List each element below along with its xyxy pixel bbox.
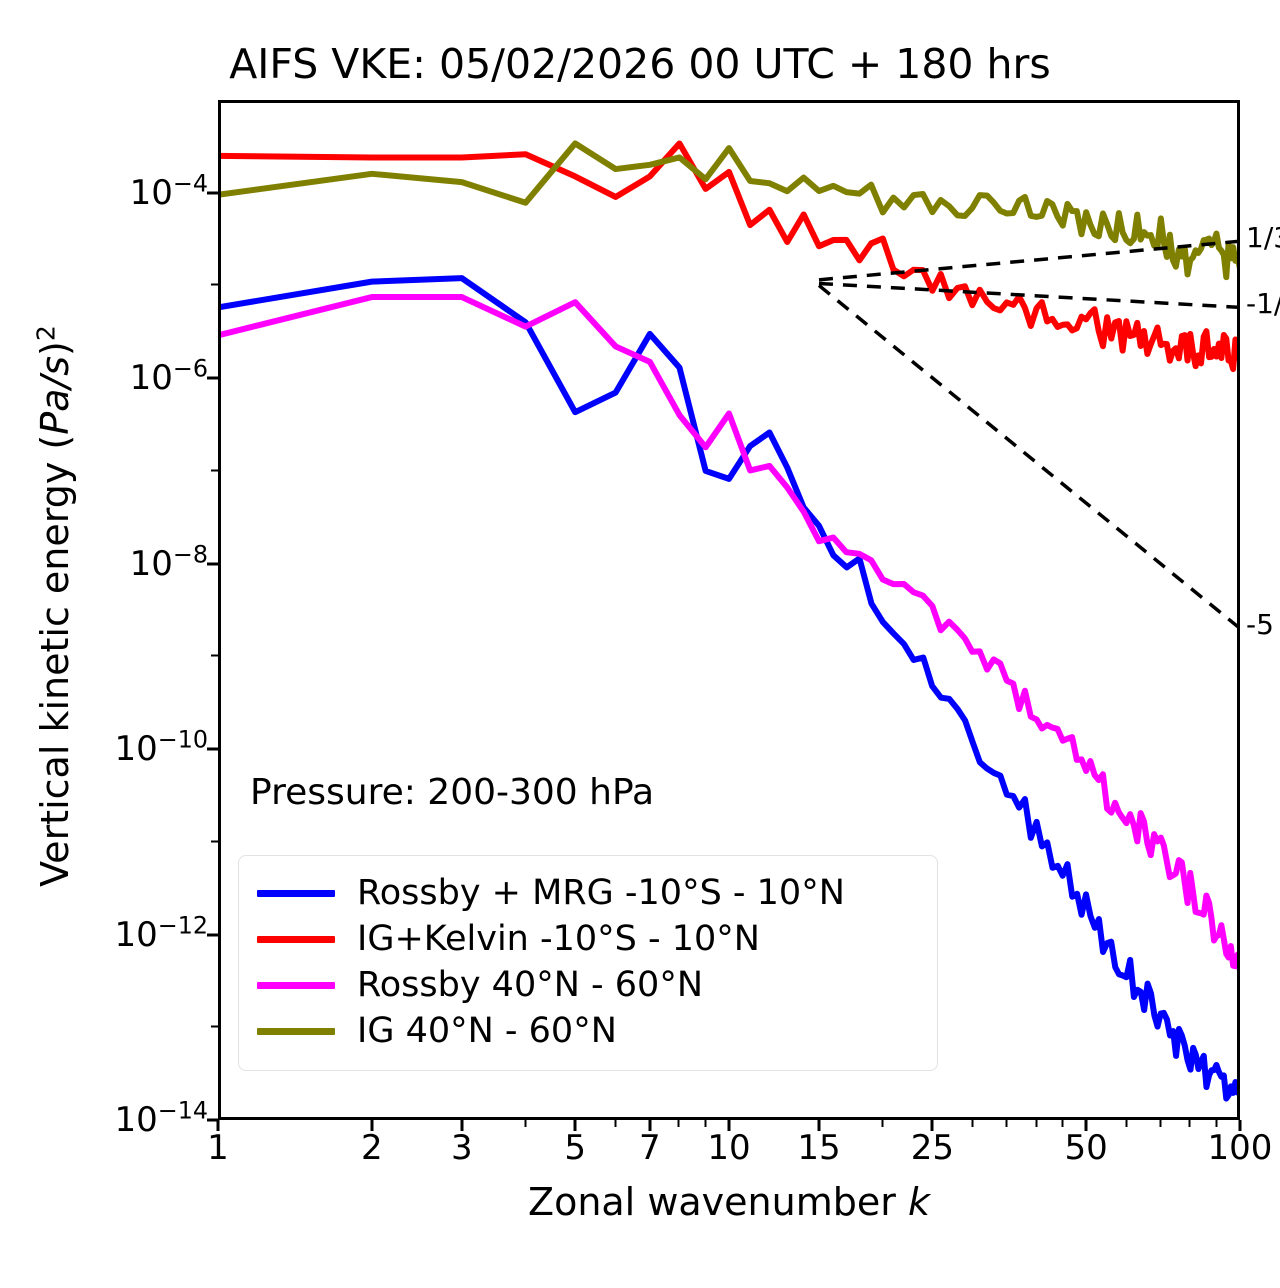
x-tick-label: 25 <box>911 1128 954 1168</box>
x-tick-mark <box>370 1120 373 1131</box>
legend-color-swatch <box>257 936 335 943</box>
x-tick-mark <box>931 1120 934 1131</box>
x-tick-mark <box>1239 1120 1242 1131</box>
pressure-annotation: Pressure: 200-300 hPa <box>250 772 654 813</box>
x-tick-mark <box>648 1120 651 1131</box>
y-tick-mark <box>207 562 218 565</box>
x-axis-tick-labels: 1235710152550100 <box>218 1128 1240 1178</box>
y-tick-label: 10−6 <box>13 358 208 398</box>
legend-label: Rossby + MRG -10°S - 10°N <box>357 873 845 913</box>
x-tick-mark-minor <box>1125 1120 1127 1127</box>
legend-color-swatch <box>257 1028 335 1035</box>
x-tick-mark-minor <box>881 1120 883 1127</box>
legend-label: IG+Kelvin -10°S - 10°N <box>357 919 760 959</box>
legend-item[interactable]: IG 40°N - 60°N <box>257 1008 919 1054</box>
y-tick-label: 10−10 <box>13 729 208 769</box>
x-tick-mark-minor <box>1006 1120 1008 1127</box>
legend-item[interactable]: Rossby + MRG -10°S - 10°N <box>257 870 919 916</box>
x-tick-label: 100 <box>1208 1128 1273 1168</box>
x-tick-label: 1 <box>207 1128 229 1168</box>
x-tick-mark-minor <box>614 1120 616 1127</box>
x-tick-mark-minor <box>704 1120 706 1127</box>
y-tick-mark <box>207 748 218 751</box>
x-tick-label: 15 <box>797 1128 840 1168</box>
legend: Rossby + MRG -10°S - 10°NIG+Kelvin -10°S… <box>238 855 938 1071</box>
x-tick-mark-minor <box>678 1120 680 1127</box>
x-tick-mark-minor <box>971 1120 973 1127</box>
x-tick-mark-minor <box>1189 1120 1191 1127</box>
y-tick-label: 10−14 <box>13 1100 208 1140</box>
y-tick-mark-minor <box>211 655 218 657</box>
x-tick-mark <box>574 1120 577 1131</box>
figure-canvas: AIFS VKE: 05/02/2026 00 UTC + 180 hrs Ve… <box>0 0 1280 1288</box>
y-tick-mark <box>207 191 218 194</box>
x-tick-mark <box>817 1120 820 1131</box>
x-tick-label: 50 <box>1065 1128 1108 1168</box>
x-tick-label: 7 <box>639 1128 661 1168</box>
y-tick-label: 10−8 <box>13 544 208 584</box>
x-axis-label: Zonal wavenumber k <box>218 1180 1240 1224</box>
y-tick-label: 10−4 <box>13 173 208 213</box>
legend-color-swatch <box>257 890 335 897</box>
x-tick-label: 3 <box>451 1128 473 1168</box>
x-tick-mark <box>1085 1120 1088 1131</box>
legend-color-swatch <box>257 982 335 989</box>
y-tick-label: 10−12 <box>13 915 208 955</box>
y-tick-mark-minor <box>211 284 218 286</box>
x-tick-mark-minor <box>1035 1120 1037 1127</box>
y-tick-mark-minor <box>211 1026 218 1028</box>
y-axis-tick-labels: 10−410−610−810−1010−1210−14 <box>0 100 208 1120</box>
legend-item[interactable]: Rossby 40°N - 60°N <box>257 962 919 1008</box>
x-tick-mark-minor <box>524 1120 526 1127</box>
slope-label: 1/3 <box>1246 221 1280 254</box>
y-tick-mark <box>207 933 218 936</box>
x-tick-mark-minor <box>1215 1120 1217 1127</box>
legend-item[interactable]: IG+Kelvin -10°S - 10°N <box>257 916 919 962</box>
y-tick-mark <box>207 377 218 380</box>
x-tick-mark <box>217 1120 220 1131</box>
y-tick-mark-minor <box>211 840 218 842</box>
x-tick-mark <box>460 1120 463 1131</box>
legend-label: Rossby 40°N - 60°N <box>357 965 703 1005</box>
x-tick-mark-minor <box>1061 1120 1063 1127</box>
y-tick-mark-minor <box>211 469 218 471</box>
slope-label: -5 <box>1246 608 1274 641</box>
legend-label: IG 40°N - 60°N <box>357 1011 617 1051</box>
slope-label: -1/3 <box>1246 287 1280 320</box>
x-tick-label: 10 <box>707 1128 750 1168</box>
page-title: AIFS VKE: 05/02/2026 00 UTC + 180 hrs <box>0 40 1280 88</box>
x-tick-label: 2 <box>361 1128 383 1168</box>
x-tick-label: 5 <box>564 1128 586 1168</box>
x-tick-mark <box>728 1120 731 1131</box>
x-tick-mark-minor <box>1159 1120 1161 1127</box>
